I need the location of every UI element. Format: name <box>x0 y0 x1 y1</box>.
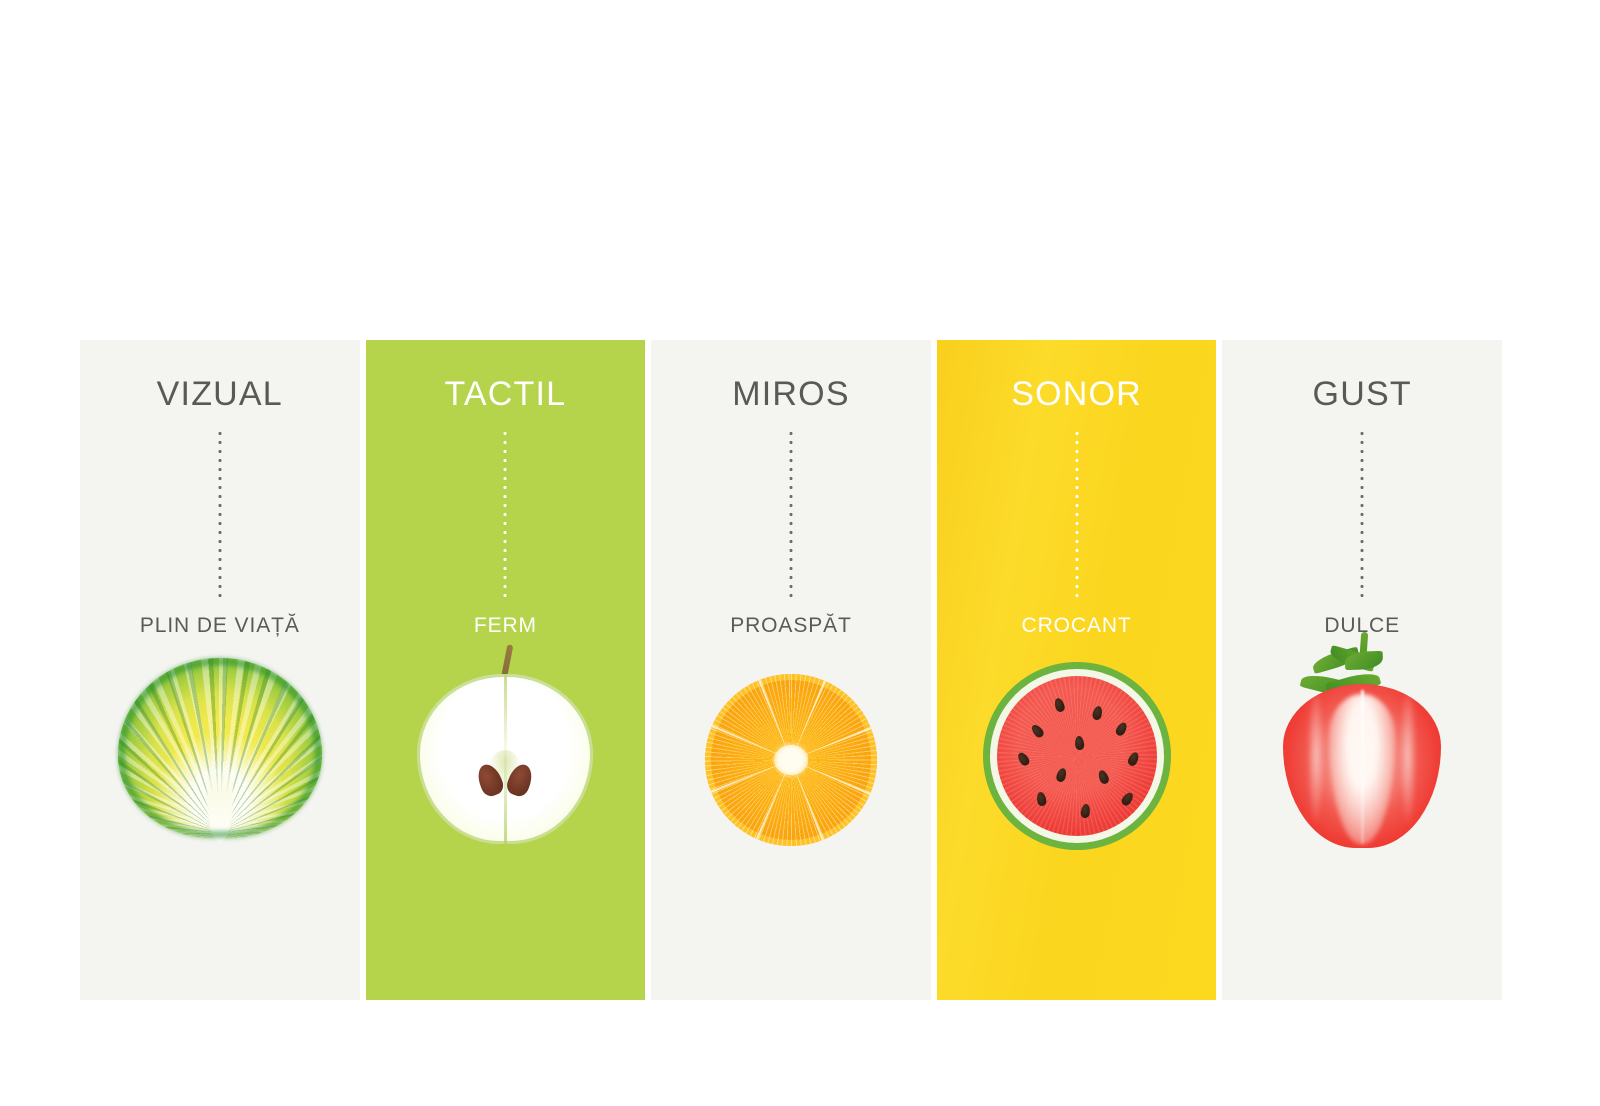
panel-vizual[interactable]: VIZUAL PLIN DE VIAȚĂ <box>80 340 360 1000</box>
strawberry-flesh <box>1283 684 1441 848</box>
watermelon-seed <box>1096 769 1110 785</box>
orange-slice-illustration <box>705 674 877 846</box>
panel-title-tactil: TACTIL <box>444 377 566 411</box>
watermelon-seed <box>1055 767 1068 783</box>
watermelon-seed <box>1080 803 1091 818</box>
panel-subtitle-vizual: PLIN DE VIAȚĂ <box>140 615 300 636</box>
panel-title-sonor: SONOR <box>1011 377 1142 411</box>
watermelon-seed <box>1114 721 1129 738</box>
dotted-divider-tactil <box>503 429 507 597</box>
artwork-slot-gust <box>1222 636 1502 1000</box>
apple-half-illustration <box>417 644 593 844</box>
watermelon-seed <box>1015 751 1030 768</box>
panel-title-gust: GUST <box>1313 377 1412 411</box>
watermelon-flesh <box>997 676 1157 836</box>
watermelon-seed <box>1126 751 1140 768</box>
panel-gust[interactable]: GUST DULCE <box>1222 340 1502 1000</box>
dotted-divider-gust <box>1360 429 1364 597</box>
panel-sonor[interactable]: SONOR CROCANT <box>937 340 1217 1000</box>
artwork-slot-tactil <box>366 636 646 1000</box>
panel-subtitle-miros: PROASPĂT <box>730 615 852 636</box>
watermelon-seed <box>1119 791 1135 808</box>
dotted-divider-sonor <box>1075 429 1079 597</box>
watermelon-seed <box>1035 791 1046 806</box>
artwork-slot-vizual <box>80 636 360 1000</box>
watermelon-seed <box>1029 723 1045 740</box>
strawberry-half-illustration <box>1283 632 1441 848</box>
panel-title-miros: MIROS <box>732 377 849 411</box>
panel-subtitle-tactil: FERM <box>474 615 537 636</box>
watermelon-seed <box>1053 697 1066 713</box>
watermelon-seed <box>1091 705 1103 721</box>
orange-core <box>774 745 808 775</box>
dotted-divider-miros <box>789 429 793 597</box>
artwork-slot-sonor <box>937 636 1217 1000</box>
sensory-panel-board: VIZUAL PLIN DE VIAȚĂ TACTIL FERM M <box>80 340 1502 1000</box>
artwork-slot-miros <box>651 636 931 1000</box>
panel-tactil[interactable]: TACTIL FERM <box>366 340 646 1000</box>
watermelon-slice-illustration <box>983 662 1171 850</box>
panel-subtitle-sonor: CROCANT <box>1022 615 1132 636</box>
strawberry-vein <box>1361 690 1364 844</box>
cabbage-rim <box>118 658 322 838</box>
strawberry-highlight <box>1399 696 1417 828</box>
panel-miros[interactable]: MIROS PROASPĂT <box>651 340 931 1000</box>
watermelon-seed <box>1074 736 1084 751</box>
strawberry-highlight <box>1307 696 1325 828</box>
cabbage-half-illustration <box>118 658 322 838</box>
dotted-divider-vizual <box>218 429 222 597</box>
panel-title-vizual: VIZUAL <box>157 377 283 411</box>
